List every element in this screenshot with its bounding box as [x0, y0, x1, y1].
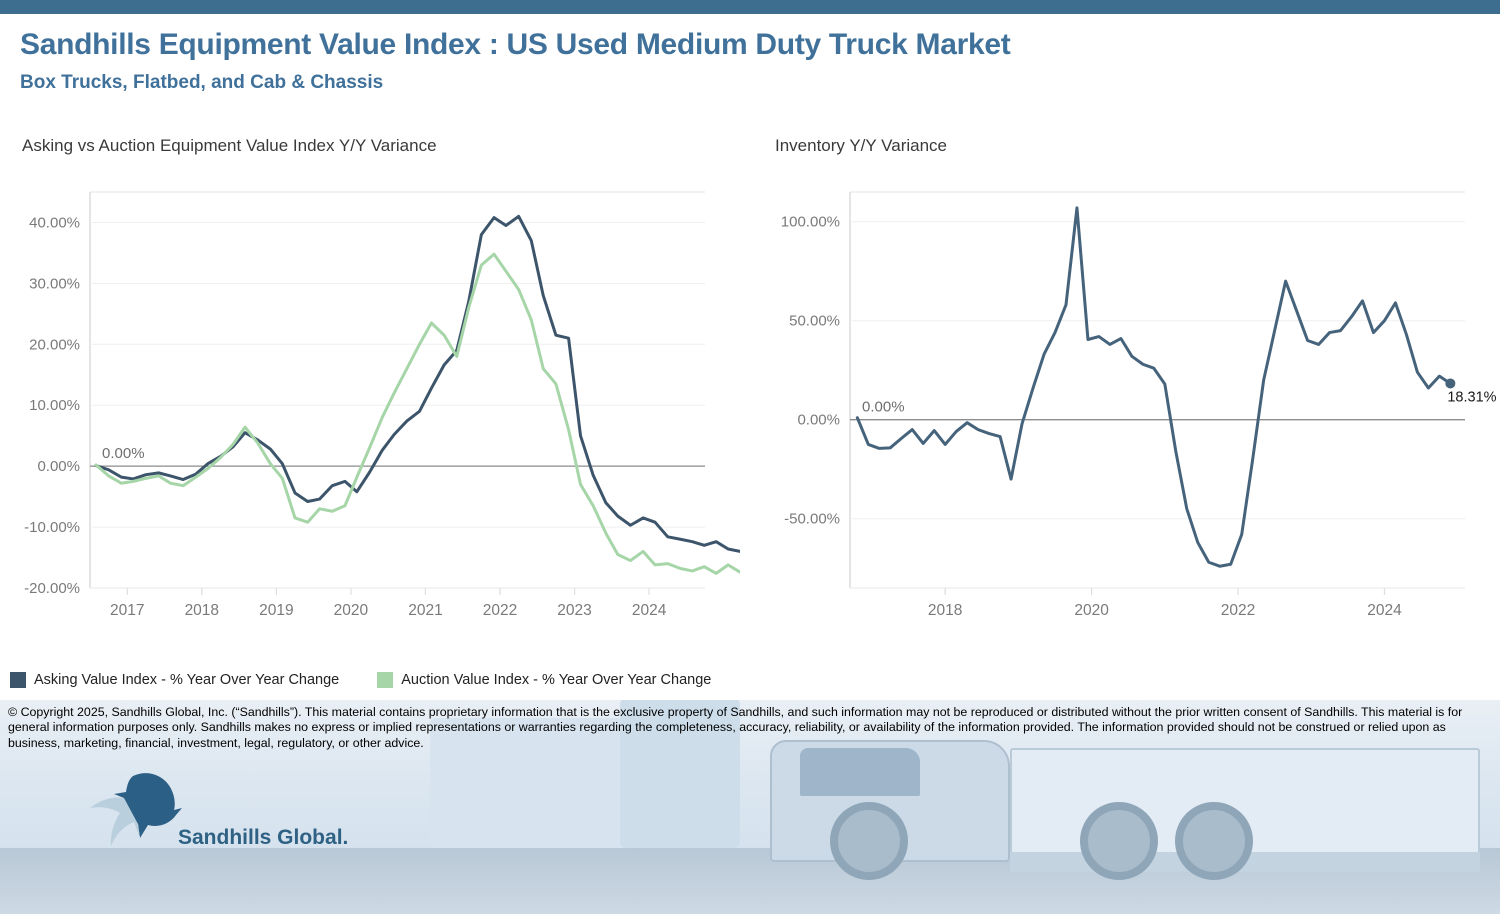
top-accent-bar	[0, 0, 1500, 14]
svg-text:20.00%: 20.00%	[29, 336, 80, 353]
right-chart-svg: -50.00%0.00%50.00%100.00%201820202022202…	[745, 170, 1500, 650]
svg-text:50.00%: 50.00%	[789, 313, 840, 330]
svg-text:-20.00%: -20.00%	[24, 580, 80, 597]
svg-text:40.00%: 40.00%	[29, 214, 80, 231]
truck-wheel-mid	[1080, 802, 1158, 880]
legend-swatch-auction	[377, 672, 393, 688]
svg-text:0.00%: 0.00%	[797, 412, 840, 429]
copyright-disclaimer: © Copyright 2025, Sandhills Global, Inc.…	[0, 702, 1500, 752]
header: Sandhills Equipment Value Index : US Use…	[20, 28, 1010, 94]
svg-text:2018: 2018	[185, 602, 219, 619]
svg-text:30.00%: 30.00%	[29, 275, 80, 292]
asking-vs-auction-chart: -20.00%-10.00%0.00%10.00%20.00%30.00%40.…	[0, 170, 740, 650]
svg-text:2024: 2024	[1367, 602, 1402, 619]
left-chart-svg: -20.00%-10.00%0.00%10.00%20.00%30.00%40.…	[0, 170, 740, 650]
legend-item-auction[interactable]: Auction Value Index - % Year Over Year C…	[377, 672, 711, 688]
legend-item-asking[interactable]: Asking Value Index - % Year Over Year Ch…	[10, 672, 339, 688]
legend-swatch-asking	[10, 672, 26, 688]
legend-label-auction: Auction Value Index - % Year Over Year C…	[401, 672, 711, 688]
svg-text:2024: 2024	[632, 602, 667, 619]
svg-text:2020: 2020	[1074, 602, 1109, 619]
svg-text:2021: 2021	[408, 602, 442, 619]
svg-text:2019: 2019	[259, 602, 293, 619]
truck-window	[800, 748, 920, 796]
svg-text:2023: 2023	[557, 602, 591, 619]
legend-label-asking: Asking Value Index - % Year Over Year Ch…	[34, 672, 339, 688]
svg-text:-50.00%: -50.00%	[784, 511, 840, 528]
svg-text:100.00%: 100.00%	[781, 214, 840, 231]
truck-wheel-rear	[1175, 802, 1253, 880]
right-chart-title: Inventory Y/Y Variance	[775, 136, 947, 156]
svg-text:0.00%: 0.00%	[862, 399, 905, 416]
page-subtitle: Box Trucks, Flatbed, and Cab & Chassis	[20, 72, 1010, 94]
logo-text: Sandhills Global.	[178, 826, 348, 850]
sandhills-logo: Sandhills Global.	[78, 768, 338, 860]
svg-text:2020: 2020	[334, 602, 369, 619]
svg-text:2022: 2022	[483, 602, 517, 619]
chart-legend: Asking Value Index - % Year Over Year Ch…	[10, 668, 810, 692]
truck-wheel-front	[830, 802, 908, 880]
left-chart-title: Asking vs Auction Equipment Value Index …	[22, 136, 437, 156]
inventory-variance-chart: -50.00%0.00%50.00%100.00%201820202022202…	[745, 170, 1500, 650]
svg-text:2022: 2022	[1221, 602, 1255, 619]
svg-text:-10.00%: -10.00%	[24, 519, 80, 536]
page-title: Sandhills Equipment Value Index : US Use…	[20, 28, 1010, 62]
svg-text:2017: 2017	[110, 602, 144, 619]
svg-text:18.31%: 18.31%	[1447, 389, 1496, 405]
svg-text:0.00%: 0.00%	[37, 458, 80, 475]
svg-text:2018: 2018	[928, 602, 962, 619]
svg-text:10.00%: 10.00%	[29, 397, 80, 414]
svg-text:0.00%: 0.00%	[102, 445, 145, 462]
